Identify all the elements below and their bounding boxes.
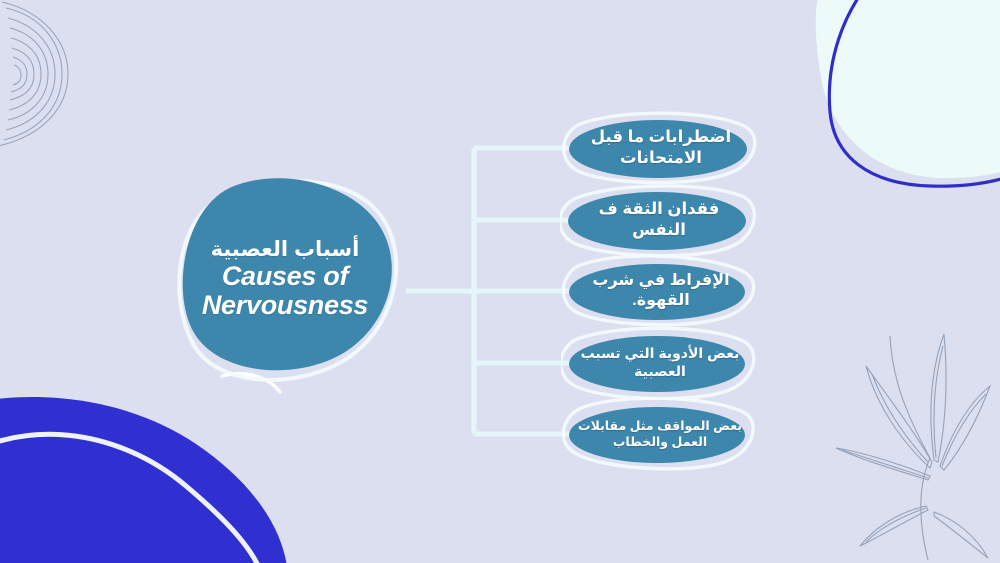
central-node-title-arabic: أسباب العصبية	[211, 239, 360, 262]
branch-node-5[interactable]: بعض المواقف مثل مقابلات العمل والخطاب	[561, 397, 759, 471]
central-node-title-english-line1: Causes of	[222, 262, 348, 291]
branch-node-3[interactable]: الإفراط في شرب القهوة.	[562, 254, 760, 328]
branch-node-1[interactable]: اضطرابات ما قبل الامتحانات	[562, 111, 760, 185]
branch-node-2-label: فقدان الثقة ف النفس	[576, 183, 742, 257]
background-decorations	[0, 0, 1000, 563]
central-node-title-english-line2: Nervousness	[202, 291, 368, 320]
branch-node-3-label: الإفراط في شرب القهوة.	[578, 254, 744, 328]
leaf-branch-lineart-icon	[836, 334, 990, 560]
branch-node-5-label: بعض المواقف مثل مقابلات العمل والخطاب	[577, 397, 743, 471]
branch-node-4[interactable]: بعض الأدوية التي تسبب العصبية	[561, 326, 759, 400]
blue-outline-curve-shape	[829, 0, 1000, 186]
central-node-text: أسباب العصبية Causes of Nervousness	[160, 168, 410, 390]
branch-node-4-label: بعض الأدوية التي تسبب العصبية	[577, 326, 743, 400]
branch-node-1-label: اضطرابات ما قبل الامتحانات	[578, 111, 744, 185]
white-curve-stroke-shape	[0, 434, 266, 563]
concentric-arcs-icon	[0, 2, 68, 146]
royal-blue-blob-shape	[0, 397, 288, 563]
tree-connectors	[0, 0, 1000, 563]
branch-node-2[interactable]: فقدان الثقة ف النفس	[560, 183, 758, 257]
slide-canvas: أسباب العصبية Causes of Nervousness اضطر…	[0, 0, 1000, 563]
central-node[interactable]: أسباب العصبية Causes of Nervousness	[160, 168, 410, 390]
mint-blob-shape	[816, 0, 1000, 178]
